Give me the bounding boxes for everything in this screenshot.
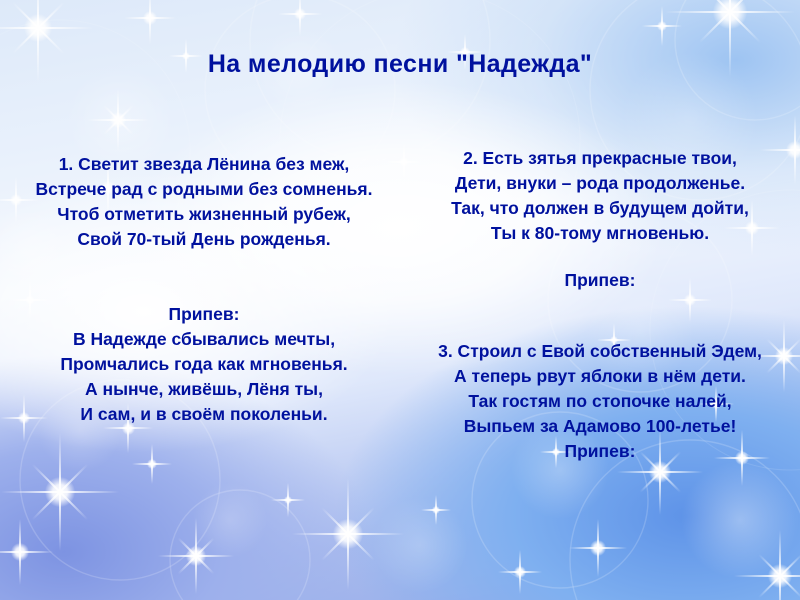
chorus-line-3: А нынче, живёшь, Лёня ты, bbox=[8, 377, 400, 402]
verse-1-line-4: Свой 70-тый День рожденья. bbox=[8, 227, 400, 252]
verse-1: 1. Светит звезда Лёнина без меж, Встрече… bbox=[8, 152, 400, 252]
sparkle-star bbox=[124, 0, 176, 44]
sparkle-star bbox=[87, 89, 149, 151]
lyrics-column-left: 1. Светит звезда Лёнина без меж, Встрече… bbox=[8, 152, 400, 427]
stanza-spacer bbox=[404, 246, 796, 268]
page-title: На мелодию песни "Надежда" bbox=[0, 50, 800, 79]
sparkle-star bbox=[0, 519, 53, 585]
sparkle-star bbox=[278, 0, 322, 36]
chorus-label: Припев: bbox=[404, 268, 796, 293]
verse-1-line-1: 1. Светит звезда Лёнина без меж, bbox=[8, 152, 400, 177]
sparkle-star bbox=[132, 444, 172, 484]
lyrics-column-right: 2. Есть зятья прекрасные твои, Дети, вну… bbox=[404, 146, 796, 464]
chorus-line-4: И сам, и в своём поколеньи. bbox=[8, 402, 400, 427]
stanza-spacer bbox=[404, 293, 796, 339]
verse-3: 3. Строил с Евой собственный Эдем, А теп… bbox=[404, 339, 796, 464]
sparkle-star bbox=[1, 433, 119, 551]
verse-2-line-2: Дети, внуки – рода продолженье. bbox=[404, 171, 796, 196]
sparkle-star bbox=[292, 478, 404, 590]
verse-2-line-4: Ты к 80-тому мгновенью. bbox=[404, 221, 796, 246]
verse-2: 2. Есть зятья прекрасные твои, Дети, вну… bbox=[404, 146, 796, 246]
stanza-spacer bbox=[8, 252, 400, 302]
verse-1-line-2: Встрече рад с родными без сомненья. bbox=[8, 177, 400, 202]
sparkle-star bbox=[271, 483, 305, 517]
sparkle-star bbox=[498, 550, 542, 594]
slide-canvas: На мелодию песни "Надежда" 1. Светит зве… bbox=[0, 0, 800, 600]
verse-2-line-3: Так, что должен в будущем дойти, bbox=[404, 196, 796, 221]
verse-2-line-1: 2. Есть зятья прекрасные твои, bbox=[404, 146, 796, 171]
verse-3-line-4: Выпьем за Адамово 100-летье! bbox=[404, 414, 796, 439]
chorus-line-1: В Надежде сбывались мечты, bbox=[8, 327, 400, 352]
chorus-label-block-1: Припев: bbox=[404, 268, 796, 293]
sparkle-star bbox=[734, 530, 800, 600]
chorus-block-left: Припев: В Надежде сбывались мечты, Промч… bbox=[8, 302, 400, 427]
verse-3-line-1: 3. Строил с Евой собственный Эдем, bbox=[404, 339, 796, 364]
sparkle-star bbox=[421, 495, 451, 525]
chorus-label: Припев: bbox=[8, 302, 400, 327]
sparkle-star bbox=[158, 518, 234, 594]
verse-3-line-3: Так гостям по стопочке налей, bbox=[404, 389, 796, 414]
chorus-line-2: Промчались года как мгновенья. bbox=[8, 352, 400, 377]
chorus-label: Припев: bbox=[404, 439, 796, 464]
sparkle-star bbox=[642, 6, 682, 46]
verse-1-line-3: Чтоб отметить жизненный рубеж, bbox=[8, 202, 400, 227]
sparkle-star bbox=[569, 519, 627, 577]
verse-3-line-2: А теперь рвут яблоки в нём дети. bbox=[404, 364, 796, 389]
